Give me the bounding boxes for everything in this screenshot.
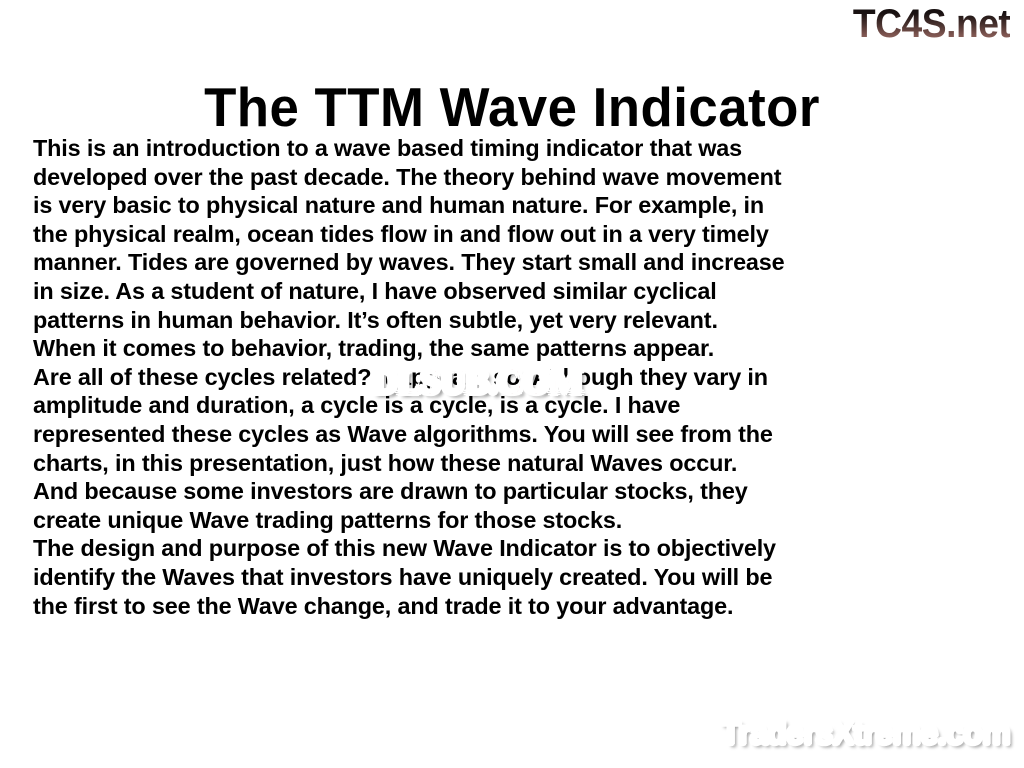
brand-logo-tc4s: TC4S.net bbox=[852, 2, 1010, 46]
body-line: This is an introduction to a wave based … bbox=[33, 134, 995, 163]
body-line: the physical realm, ocean tides flow in … bbox=[33, 220, 995, 249]
paragraph-3: The design and purpose of this new Wave … bbox=[33, 534, 995, 620]
body-line: developed over the past decade. The theo… bbox=[33, 163, 995, 192]
body-line: And because some investors are drawn to … bbox=[33, 477, 995, 506]
body-line: patterns in human behavior. It’s often s… bbox=[33, 306, 995, 335]
watermark-text: DLSUB.COM bbox=[372, 362, 583, 401]
page-title: The TTM Wave Indicator bbox=[20, 75, 1003, 139]
body-line: is very basic to physical nature and hum… bbox=[33, 191, 995, 220]
body-line: represented these cycles as Wave algorit… bbox=[33, 420, 995, 449]
body-line: the first to see the Wave change, and tr… bbox=[33, 592, 995, 621]
paragraph-1: This is an introduction to a wave based … bbox=[33, 134, 995, 363]
body-line: identify the Waves that investors have u… bbox=[33, 563, 995, 592]
brand-logo-tradersxtreme: TradersXtreme.com bbox=[721, 714, 1010, 752]
watermark-dlsub: DLSUB.COM bbox=[372, 364, 583, 400]
body-line: in size. As a student of nature, I have … bbox=[33, 277, 995, 306]
body-line: charts, in this presentation, just how t… bbox=[33, 449, 995, 478]
body-line: create unique Wave trading patterns for … bbox=[33, 506, 995, 535]
brand-logo-text: TradersXtreme.com bbox=[721, 714, 1010, 751]
slide-canvas: TC4S.net The TTM Wave Indicator This is … bbox=[0, 0, 1024, 768]
body-line: The design and purpose of this new Wave … bbox=[33, 534, 995, 563]
body-line: manner. Tides are governed by waves. The… bbox=[33, 248, 995, 277]
body-line: When it comes to behavior, trading, the … bbox=[33, 334, 995, 363]
